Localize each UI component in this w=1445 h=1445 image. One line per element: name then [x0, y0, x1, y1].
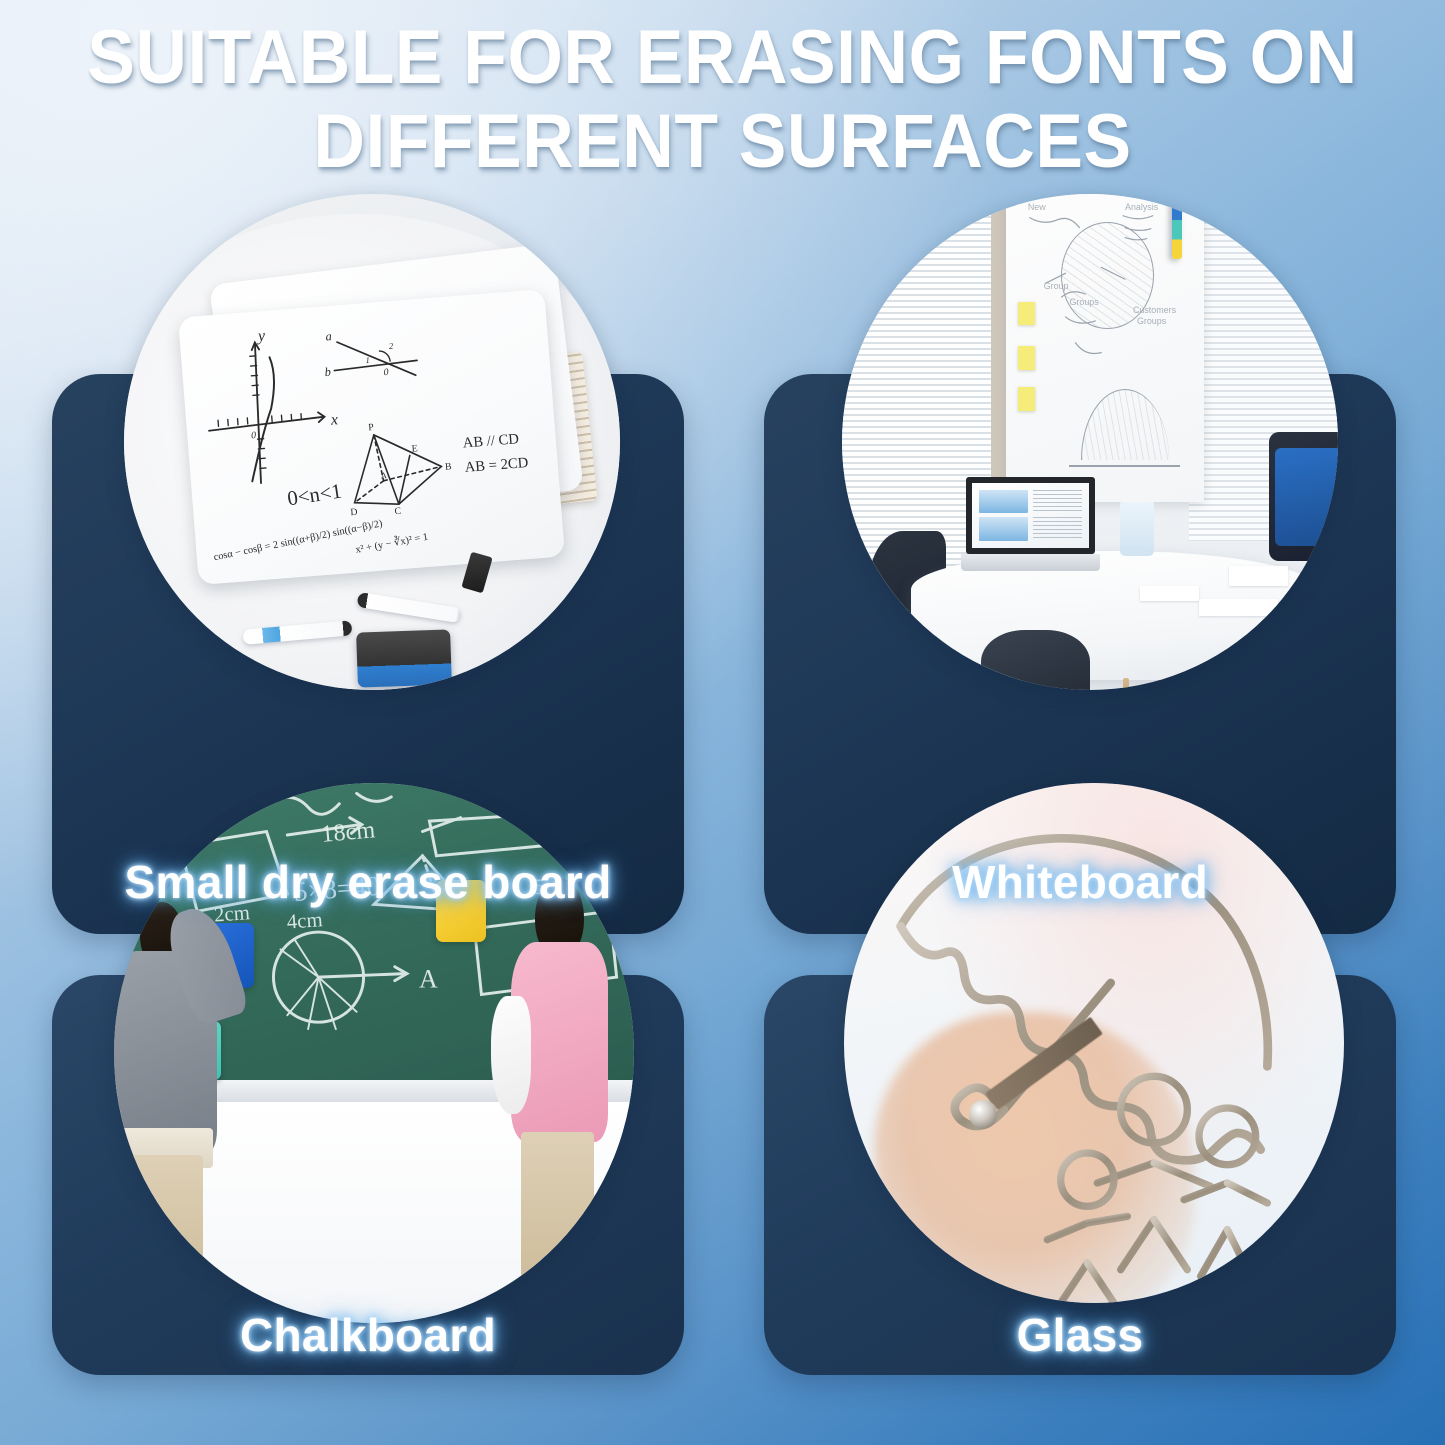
sticky-note — [1018, 346, 1036, 370]
svg-text:B: B — [163, 796, 190, 836]
svg-text:Analysis: Analysis — [1125, 202, 1159, 212]
panel-chalkboard[interactable]: 18cm 5×8=40 4cm 2cm A B 5+5 — [52, 975, 684, 1375]
sticky-note — [1018, 302, 1036, 326]
svg-text:cosα − cosβ = 2 sin((α+β)/2) s: cosα − cosβ = 2 sin((α+β)/2) sin((α−β)/2… — [213, 518, 384, 563]
svg-text:0<n<1: 0<n<1 — [286, 480, 343, 511]
svg-text:y: y — [256, 327, 267, 345]
infographic-root: SUITABLE FOR ERASING FONTS ON DIFFERENT … — [0, 0, 1445, 1445]
svg-text:P: P — [368, 422, 375, 433]
svg-text:AB // CD: AB // CD — [463, 431, 521, 451]
svg-text:0: 0 — [251, 430, 257, 441]
svg-text:A: A — [419, 965, 438, 994]
svg-text:B: B — [445, 461, 453, 473]
photo-whiteboard: New Analysis Customers Groups Groups Gro… — [842, 194, 1338, 690]
svg-text:x² + (y − ∛x)² = 1: x² + (y − ∛x)² = 1 — [355, 531, 430, 556]
panel-glass[interactable]: Glass — [764, 975, 1396, 1375]
page-title: SUITABLE FOR ERASING FONTS ON DIFFERENT … — [0, 16, 1445, 184]
svg-text:b: b — [325, 365, 332, 379]
svg-text:AB = 2CD: AB = 2CD — [465, 455, 530, 476]
sticky-note — [1018, 387, 1036, 411]
svg-text:Groups: Groups — [1069, 297, 1099, 307]
paper-sheet — [1229, 566, 1289, 586]
paper-sheet — [1199, 599, 1278, 616]
panel-label-whiteboard: Whiteboard — [764, 856, 1396, 908]
board-handwriting: y x 0 a b 1 — [179, 289, 566, 580]
svg-text:New: New — [1027, 202, 1045, 212]
panel-label-glass: Glass — [764, 1309, 1396, 1361]
svg-text:E: E — [412, 443, 419, 454]
svg-text:Groups: Groups — [1137, 316, 1167, 326]
svg-text:x: x — [330, 411, 339, 429]
svg-text:a: a — [325, 329, 332, 343]
svg-text:Customers: Customers — [1133, 305, 1177, 315]
svg-text:D: D — [351, 507, 359, 519]
photo-small-dry-erase-board: y x 0 a b 1 — [124, 194, 620, 690]
person-standing — [478, 869, 634, 1323]
laptop — [966, 477, 1095, 571]
marker-nib — [969, 1100, 997, 1129]
office-chair-right — [1269, 432, 1338, 561]
panel-label-small-dry-erase-board: Small dry erase board — [52, 856, 684, 908]
paper-sheet — [1140, 586, 1200, 601]
dry-erase-board-front: y x 0 a b 1 — [179, 289, 566, 585]
svg-text:4cm: 4cm — [286, 908, 323, 933]
svg-text:18cm: 18cm — [320, 816, 376, 848]
svg-text:0: 0 — [384, 367, 390, 378]
person-writing — [114, 880, 270, 1323]
panel-label-chalkboard: Chalkboard — [52, 1309, 684, 1361]
svg-text:2: 2 — [389, 341, 395, 351]
water-glass — [1120, 502, 1155, 557]
svg-text:Group: Group — [1043, 281, 1068, 291]
three-color-magnetic-eraser — [1172, 200, 1182, 259]
title-line-1: SUITABLE FOR ERASING FONTS ON — [43, 16, 1401, 100]
office-whiteboard: New Analysis Customers Groups Groups Gro… — [1006, 194, 1204, 502]
svg-text:C: C — [395, 506, 402, 517]
magnetic-eraser — [356, 629, 452, 687]
title-line-2: DIFFERENT SURFACES — [43, 100, 1401, 184]
chair-foreground — [981, 630, 1090, 690]
